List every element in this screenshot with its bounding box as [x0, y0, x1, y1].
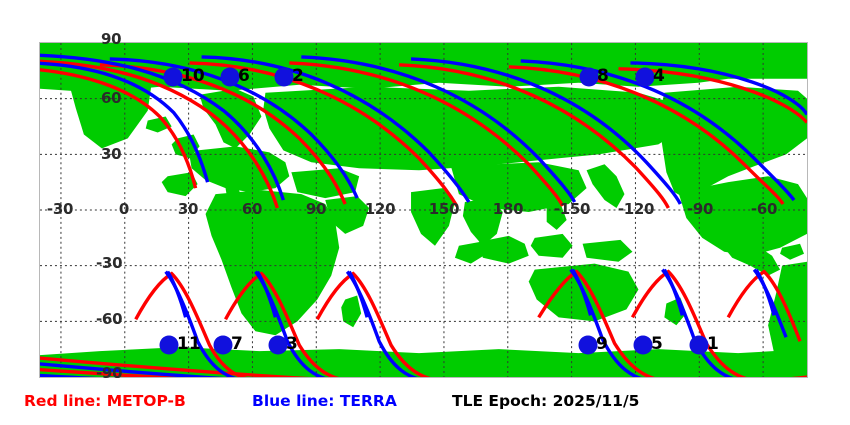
marker-label-8: 8 — [597, 66, 609, 86]
lat-tick-90: 90 — [101, 30, 121, 48]
lat-tick-m90: -90 — [96, 364, 122, 382]
marker-label-7: 7 — [231, 334, 243, 354]
marker-label-1: 1 — [707, 334, 719, 354]
lon-tick-30: 30 — [178, 200, 198, 218]
lon-tick-m120: -120 — [618, 200, 654, 218]
lon-tick-150: 150 — [429, 200, 459, 218]
marker-label-11: 11 — [177, 334, 201, 354]
marker-dot-9[interactable] — [579, 336, 598, 355]
lon-tick-m60: -60 — [751, 200, 777, 218]
lat-tick-30: 30 — [101, 145, 121, 163]
lat-tick-m60: -60 — [96, 310, 122, 328]
marker-dot-1[interactable] — [690, 336, 709, 355]
lon-tick-m90: -90 — [687, 200, 713, 218]
lon-tick-120: 120 — [365, 200, 395, 218]
lat-tick-60: 60 — [101, 89, 121, 107]
marker-label-9: 9 — [596, 334, 608, 354]
lon-tick-180: 180 — [493, 200, 523, 218]
marker-label-10: 10 — [181, 66, 205, 86]
lon-tick-m150: -150 — [554, 200, 590, 218]
marker-dot-3[interactable] — [269, 336, 288, 355]
marker-dot-10[interactable] — [164, 68, 183, 87]
legend-red-line: Red line: METOP-B — [24, 392, 186, 410]
ground-track-page: 90 60 30 -30 -60 -90 -30 0 30 60 90 120 … — [0, 0, 850, 425]
marker-label-2: 2 — [292, 66, 304, 86]
marker-dot-4[interactable] — [636, 68, 655, 87]
legend-blue-line: Blue line: TERRA — [252, 392, 397, 410]
legend-tle-epoch: TLE Epoch: 2025/11/5 — [452, 392, 639, 410]
marker-dot-6[interactable] — [221, 68, 240, 87]
marker-dot-8[interactable] — [580, 68, 599, 87]
legend-bar: Red line: METOP-B Blue line: TERRA TLE E… — [0, 392, 850, 425]
lon-tick-90: 90 — [306, 200, 326, 218]
marker-dot-7[interactable] — [214, 336, 233, 355]
marker-label-4: 4 — [653, 66, 665, 86]
marker-label-3: 3 — [286, 334, 298, 354]
lon-tick-0: 0 — [119, 200, 129, 218]
lat-tick-m30: -30 — [96, 254, 122, 272]
lon-tick-60: 60 — [242, 200, 262, 218]
marker-dot-5[interactable] — [634, 336, 653, 355]
marker-dot-11[interactable] — [160, 336, 179, 355]
lon-tick-m30: -30 — [47, 200, 73, 218]
marker-label-5: 5 — [651, 334, 663, 354]
marker-label-6: 6 — [238, 66, 250, 86]
marker-dot-2[interactable] — [275, 68, 294, 87]
